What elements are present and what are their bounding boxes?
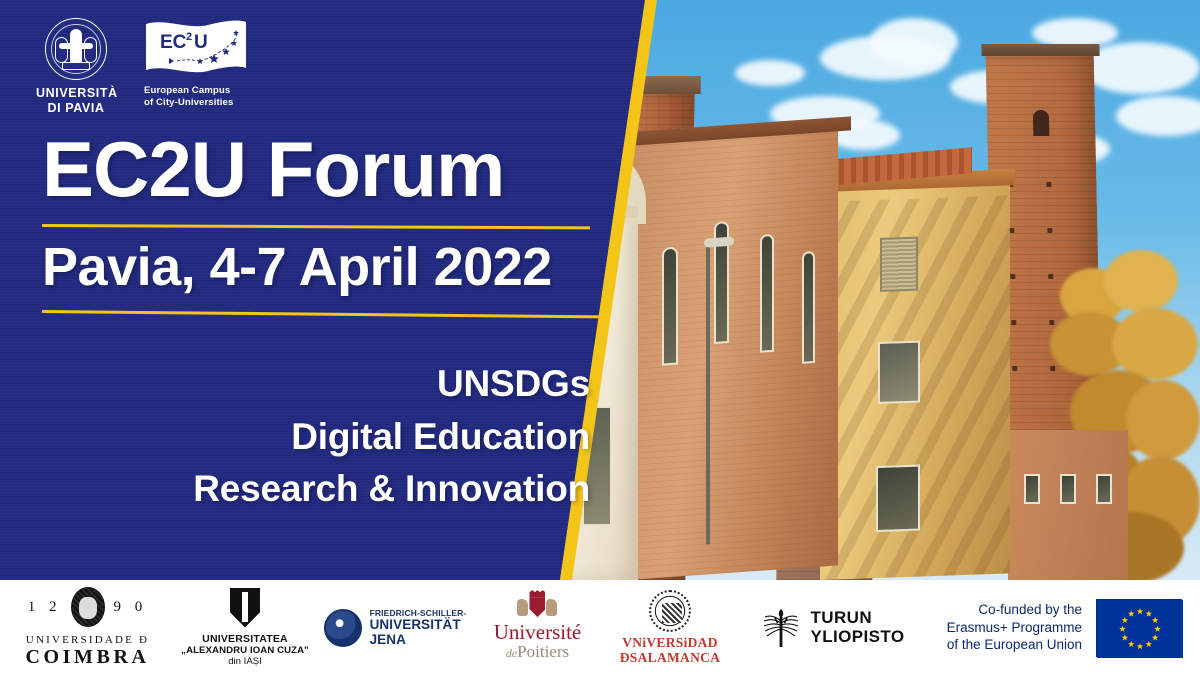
coimbra-line1: UNIVERSIDADE Ð — [25, 634, 149, 646]
ecu-subtitle-line2: of City-Universities — [144, 97, 259, 109]
hero-title-block: EC2U Forum Pavia, 4-7 April 2022 — [42, 130, 602, 313]
eu-cofunding-block: Co-funded by the Erasmus+ Programme of t… — [925, 580, 1200, 675]
jena-line3: JENA — [370, 633, 467, 647]
theme-item: UNSDGs — [60, 358, 590, 411]
poitiers-line2: Poitiers — [517, 642, 569, 661]
organiser-logos: UNIVERSITÀ DI PAVIA EC 2 U — [36, 18, 259, 116]
coimbra-line2: COIMBRA — [25, 646, 149, 668]
partner-logo-turku[interactable]: TURUN YLIOPISTO — [740, 580, 925, 675]
pavia-logo-line1: UNIVERSITÀ — [36, 86, 116, 101]
iasi-line3: din IAȘI — [181, 656, 309, 667]
turku-line2: YLIOPISTO — [811, 628, 905, 646]
svg-text:2: 2 — [186, 31, 192, 43]
ec2u-logo[interactable]: EC 2 U — [144, 18, 259, 109]
partner-logo-coimbra[interactable]: 1 2 9 0 UNIVERSIDADE Ð COIMBRA — [0, 580, 175, 675]
ec2u-flag-logo-icon: EC 2 U — [144, 18, 248, 80]
brick-church-building — [628, 117, 838, 580]
iasi-line2: „ALEXANDRU IOAN CUZA" — [181, 645, 309, 657]
theme-item: Digital Education — [60, 411, 590, 464]
coimbra-seal-icon — [71, 587, 105, 627]
event-title: EC2U Forum — [42, 130, 602, 208]
coimbra-year-right: 9 0 — [114, 599, 148, 616]
forum-themes: UNSDGs Digital Education Research & Inno… — [60, 358, 590, 516]
poitiers-line2-prefix: de — [506, 646, 517, 660]
university-of-pavia-logo[interactable]: UNIVERSITÀ DI PAVIA — [36, 18, 116, 116]
salamanca-line2: ÐSALAMANCA — [620, 650, 721, 665]
jena-seal-icon — [324, 609, 362, 647]
iasi-crest-icon — [230, 588, 260, 628]
pavia-university-seal-icon — [45, 18, 107, 80]
poitiers-crest-icon — [517, 594, 557, 620]
partner-logo-poitiers[interactable]: Université dePoitiers — [475, 580, 600, 675]
theme-item: Research & Innovation — [60, 463, 590, 516]
event-location-dates: Pavia, 4-7 April 2022 — [42, 240, 602, 294]
eu-line2: Erasmus+ Programme — [947, 619, 1082, 637]
background-building — [1008, 430, 1128, 580]
cloud — [870, 18, 958, 66]
jena-line2: UNIVERSITÄT — [370, 618, 467, 632]
iasi-line1: UNIVERSITATEA — [181, 633, 309, 645]
svg-text:U: U — [194, 32, 208, 53]
pavia-logo-line2: DI PAVIA — [36, 101, 116, 116]
turku-line1: TURUN — [811, 609, 905, 627]
partner-logo-bar: 1 2 9 0 UNIVERSIDADE Ð COIMBRA UNIVERSIT… — [0, 580, 1200, 675]
partner-logo-jena[interactable]: FRIEDRICH-SCHILLER- UNIVERSITÄT JENA — [315, 580, 475, 675]
eu-flag-icon — [1096, 599, 1182, 657]
tower-cap — [981, 44, 1099, 56]
eu-line1: Co-funded by the — [947, 601, 1082, 619]
ecu-subtitle-line1: European Campus — [144, 85, 259, 97]
salamanca-line1: VNiVERSiDAD — [620, 635, 721, 650]
turku-torch-icon — [761, 607, 801, 649]
ochre-building — [820, 169, 1010, 580]
poitiers-line1: Université — [494, 622, 581, 643]
eu-line3: of the European Union — [947, 636, 1082, 654]
salamanca-seal-icon — [649, 590, 691, 632]
gold-rule-top — [42, 224, 590, 229]
cloud — [735, 60, 805, 86]
tower-window-slit — [1033, 110, 1050, 136]
partner-logo-iasi[interactable]: UNIVERSITATEA „ALEXANDRU IOAN CUZA" din … — [175, 580, 315, 675]
event-banner: UNIVERSITÀ DI PAVIA EC 2 U — [0, 0, 1200, 675]
svg-text:EC: EC — [160, 32, 187, 53]
partner-logo-salamanca[interactable]: VNiVERSiDAD ÐSALAMANCA — [600, 580, 740, 675]
coimbra-year-left: 1 2 — [28, 599, 62, 616]
